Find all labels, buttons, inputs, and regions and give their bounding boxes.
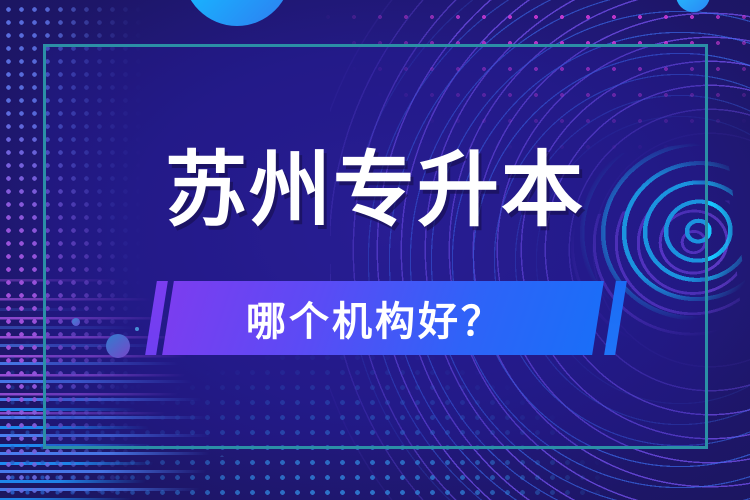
chevron-outline-icon [120,455,324,500]
promotional-banner: 苏州专升本 哪个机构好？ [0,0,750,500]
page-title: 苏州专升本 [165,150,585,232]
subtitle-container: 哪个机构好？ [0,281,750,355]
circle-top-right-icon [676,0,710,12]
circle-top-main-icon [183,0,291,26]
decorative-frame [43,44,708,449]
title-container: 苏州专升本 [0,150,750,232]
subtitle-text: 哪个机构好？ [0,281,750,355]
